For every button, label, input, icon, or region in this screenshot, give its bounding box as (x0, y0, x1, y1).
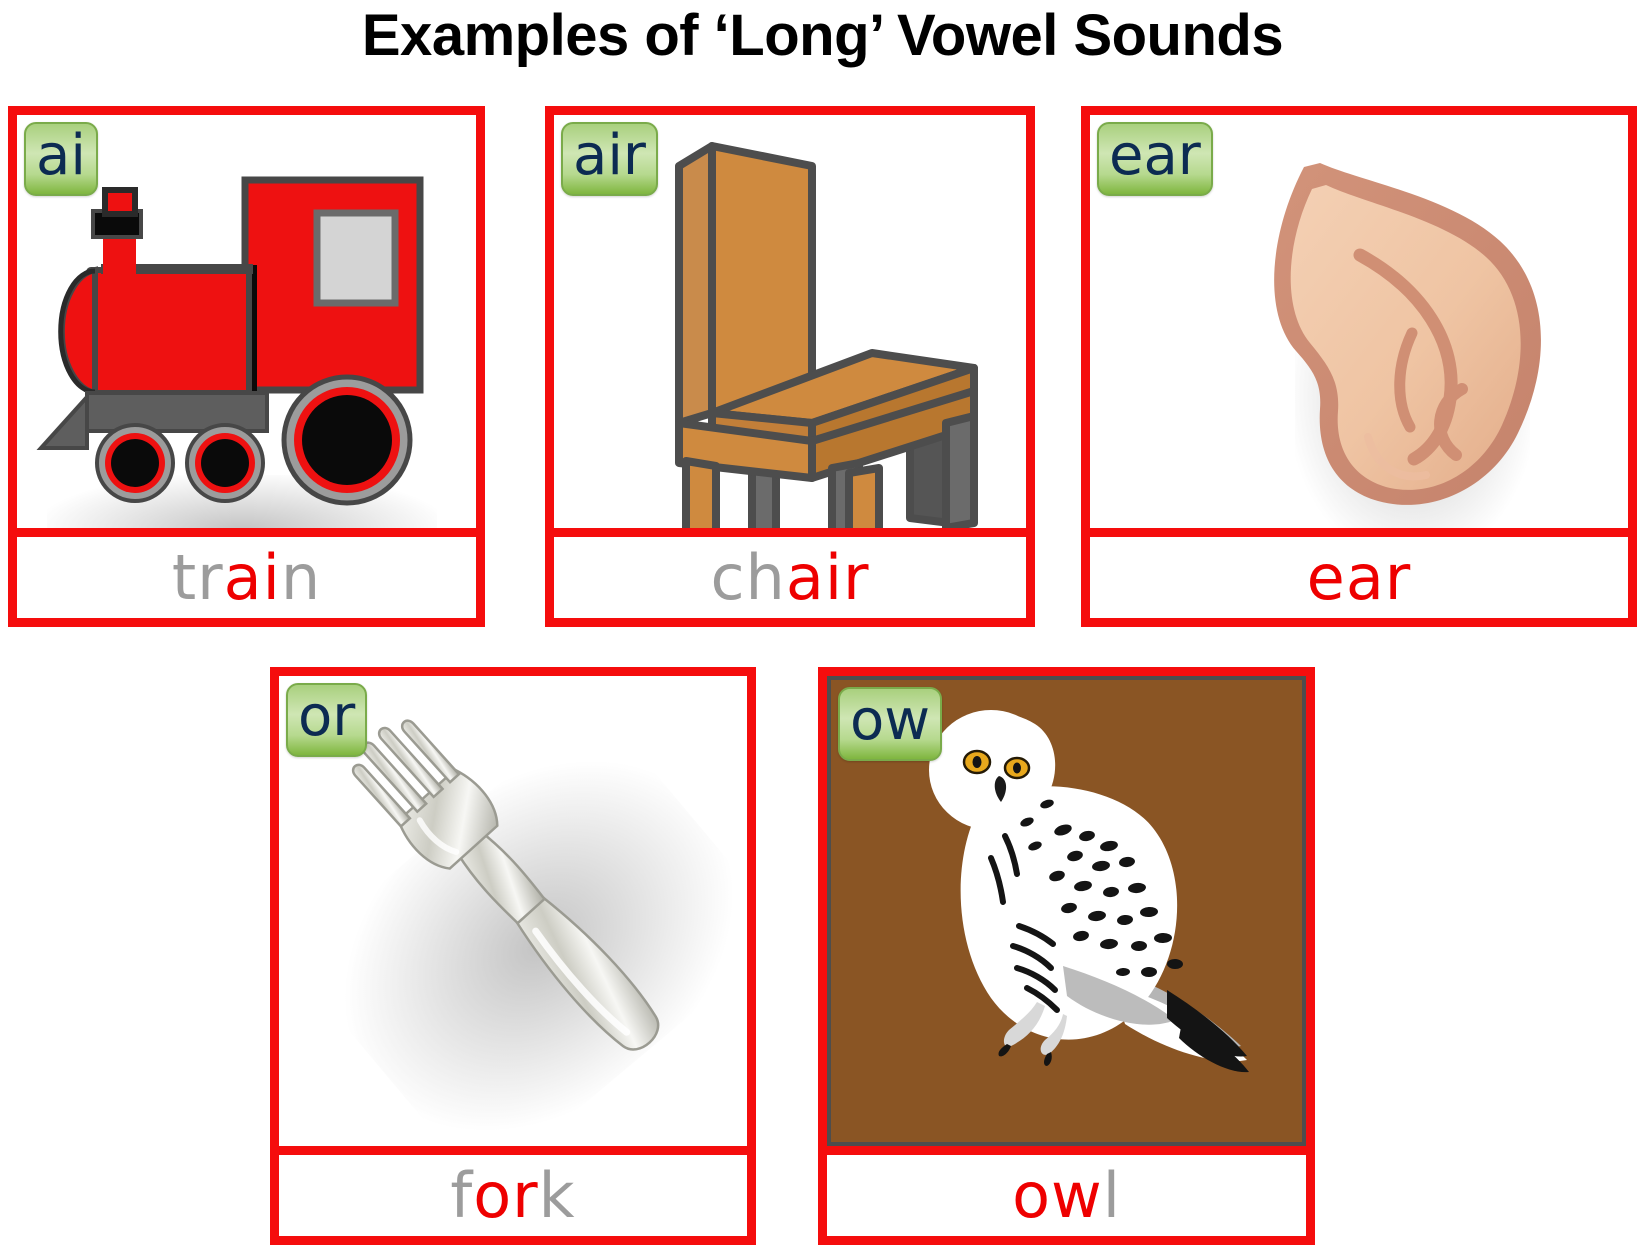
vowel-card-ai[interactable]: ai (8, 106, 485, 627)
caption-train: train (17, 528, 476, 618)
word-part: air (786, 541, 870, 614)
phonics-poster: Examples of ‘Long’ Vowel Sounds ai (0, 0, 1645, 1252)
caption-chair: chair (554, 528, 1026, 618)
word-part: ch (710, 541, 785, 614)
grapheme-tag-label: ai (36, 128, 86, 184)
grapheme-tag-label: or (298, 689, 355, 745)
picture-snowy-owl: ow (827, 676, 1306, 1146)
grapheme-tag-ow: ow (838, 687, 942, 761)
word-part: tr (172, 541, 224, 614)
grapheme-tag-or: or (286, 683, 367, 757)
word-owl: owl (1012, 1165, 1121, 1227)
vowel-card-ear[interactable]: ear (1081, 106, 1637, 627)
grapheme-tag-label: air (573, 128, 646, 184)
caption-owl: owl (827, 1146, 1306, 1236)
word-part: ear (1307, 541, 1412, 614)
word-part: or (473, 1159, 538, 1232)
caption-fork: fork (279, 1146, 747, 1236)
word-ear: ear (1307, 547, 1412, 609)
grapheme-tag-label: ear (1109, 128, 1201, 184)
grapheme-tag-label: ow (850, 693, 930, 749)
picture-wooden-chair: air (554, 115, 1026, 528)
word-fork: fork (450, 1165, 575, 1227)
steam-train-illustration (17, 145, 476, 528)
word-part: n (281, 541, 321, 614)
word-part: f (450, 1159, 473, 1232)
vowel-card-ow[interactable]: ow (818, 667, 1315, 1245)
word-part: ai (224, 541, 281, 614)
word-chair: chair (710, 547, 869, 609)
picture-silver-fork: or (279, 676, 747, 1146)
word-part: k (539, 1159, 576, 1232)
word-part: l (1103, 1159, 1121, 1232)
grapheme-tag-air: air (561, 122, 658, 196)
vowel-card-or[interactable]: or (270, 667, 756, 1245)
grapheme-tag-ai: ai (24, 122, 98, 196)
word-train: train (172, 547, 321, 609)
caption-ear: ear (1090, 528, 1628, 618)
vowel-card-air[interactable]: air (545, 106, 1035, 627)
human-ear-illustration (1200, 137, 1600, 528)
picture-human-ear: ear (1090, 115, 1628, 528)
page-title: Examples of ‘Long’ Vowel Sounds (0, 2, 1645, 69)
word-part: ow (1012, 1159, 1103, 1232)
grapheme-tag-ear: ear (1097, 122, 1213, 196)
picture-steam-train: ai (17, 115, 476, 528)
